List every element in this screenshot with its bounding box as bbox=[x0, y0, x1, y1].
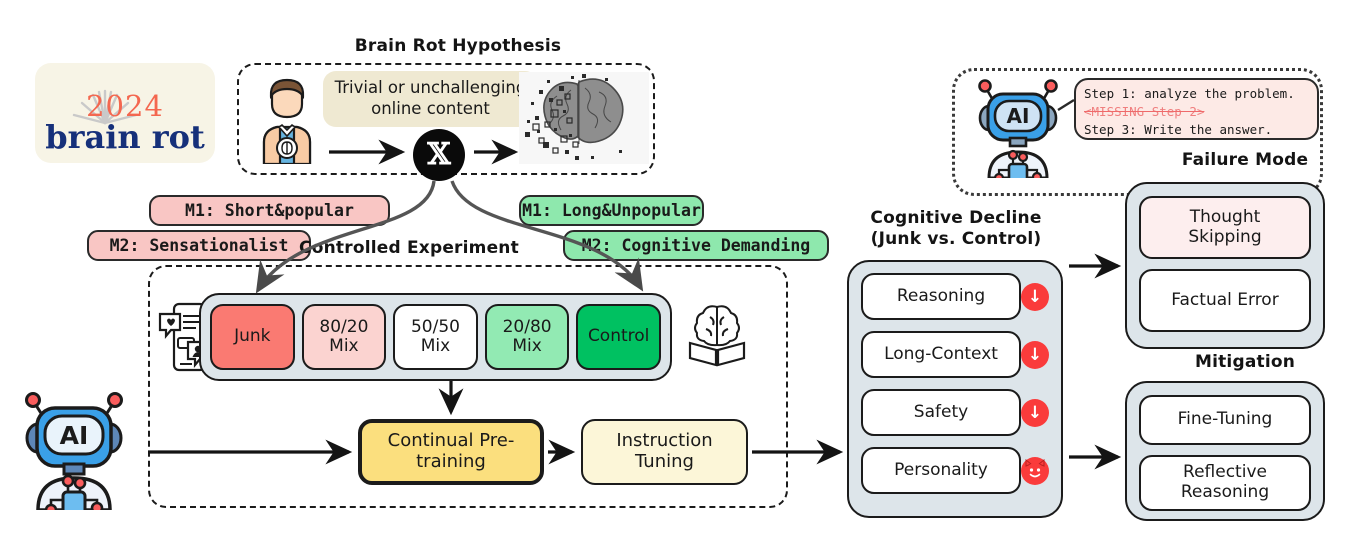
cognitive-label-safety[interactable]: Safety bbox=[861, 389, 1021, 436]
continual-pretraining-line2: training bbox=[382, 452, 521, 473]
mix-box-50-50-line2: Mix bbox=[421, 337, 450, 356]
failure-code-bubble: Step 1: analyze the problem. <MISSING St… bbox=[1074, 78, 1319, 140]
decaying-brain-icon bbox=[519, 72, 649, 164]
instruction-tuning-line2: Tuning bbox=[610, 452, 718, 473]
mix-box-control-line1: Control bbox=[588, 327, 649, 346]
mix-box-20-80-line1: 20/80 bbox=[503, 318, 552, 337]
mix-box-80-20-line1: 80/20 bbox=[319, 318, 368, 337]
svg-text:AI: AI bbox=[60, 421, 89, 450]
instruction-tuning-box[interactable]: Instruction Tuning bbox=[581, 419, 748, 485]
brain-rot-logo: 2024 brain rot bbox=[35, 63, 215, 163]
data-mix-strip: Junk 80/20 Mix 50/50 Mix 20/80 Mix Contr… bbox=[199, 293, 672, 381]
code-line-1: Step 1: analyze the problem. bbox=[1084, 85, 1309, 103]
x-logo-icon: 𝕏 bbox=[413, 129, 465, 181]
mix-box-50-50[interactable]: 50/50 Mix bbox=[393, 304, 478, 370]
failure-item-factual-error-label: Factual Error bbox=[1171, 291, 1278, 311]
mitigation-item-fine-tuning[interactable]: Fine-Tuning bbox=[1139, 395, 1311, 445]
mix-box-80-20-line2: Mix bbox=[329, 337, 358, 356]
mitigation-item-reflective-reasoning[interactable]: Reflective Reasoning bbox=[1139, 455, 1311, 511]
mix-box-20-80-line2: Mix bbox=[512, 337, 541, 356]
person-icon bbox=[258, 76, 316, 164]
online-content-text: Trivial or unchallenging online content bbox=[331, 78, 530, 119]
hypothesis-caption: Brain Rot Hypothesis bbox=[348, 36, 568, 56]
metric-control-m1: M1: Long&Unpopular bbox=[519, 195, 704, 226]
mitigation-caption: Mitigation bbox=[1170, 352, 1320, 372]
down-arrow-icon: ↓ bbox=[1021, 283, 1049, 311]
svg-text:AI: AI bbox=[1007, 104, 1030, 128]
failure-mode-caption: Failure Mode bbox=[1165, 150, 1325, 170]
mitigation-item-reflective-reasoning-line2: Reasoning bbox=[1181, 482, 1269, 502]
cognitive-row-long-context: Long-Context ↓ bbox=[861, 331, 1049, 378]
continual-pretraining-line1: Continual Pre- bbox=[382, 431, 521, 452]
experiment-caption: Controlled Experiment bbox=[294, 238, 524, 258]
logo-word: brain rot bbox=[35, 118, 215, 156]
mitigation-panel: Fine-Tuning Reflective Reasoning bbox=[1125, 381, 1325, 521]
failure-item-thought-skipping-line2: Skipping bbox=[1188, 227, 1261, 247]
metric-junk-m1-label: M1: Short&popular bbox=[185, 201, 354, 220]
metric-junk-m1: M1: Short&popular bbox=[149, 195, 390, 226]
mitigation-item-reflective-reasoning-line1: Reflective bbox=[1183, 462, 1267, 482]
continual-pretraining-box[interactable]: Continual Pre- training bbox=[358, 419, 544, 485]
metric-control-m2-label: M2: Cognitive Demanding bbox=[582, 236, 810, 255]
down-arrow-icon: ↓ bbox=[1021, 341, 1049, 369]
down-arrow-icon: ↓ bbox=[1021, 399, 1049, 427]
cognitive-label-personality[interactable]: Personality bbox=[861, 447, 1021, 494]
metric-junk-m2-label: M2: Sensationalist bbox=[110, 236, 289, 255]
failure-item-thought-skipping-line1: Thought bbox=[1190, 207, 1261, 227]
code-line-2-missing: <MISSING Step 2> bbox=[1084, 103, 1309, 121]
instruction-tuning-line1: Instruction bbox=[610, 431, 718, 452]
cognitive-decline-caption: Cognitive Decline (Junk vs. Control) bbox=[845, 208, 1067, 251]
cognitive-decline-panel: Reasoning ↓ Long-Context ↓ Safety ↓ Pers… bbox=[847, 260, 1063, 518]
mix-box-control[interactable]: Control bbox=[576, 304, 661, 370]
cognitive-row-personality: Personality bbox=[861, 447, 1049, 494]
ai-robot-icon: AI bbox=[972, 78, 1064, 178]
brain-book-icon bbox=[686, 303, 748, 369]
failure-item-factual-error[interactable]: Factual Error bbox=[1139, 269, 1311, 332]
mix-box-20-80[interactable]: 20/80 Mix bbox=[485, 304, 570, 370]
metric-control-m2: M2: Cognitive Demanding bbox=[563, 230, 829, 261]
failure-mode-panel: Thought Skipping Factual Error bbox=[1125, 182, 1325, 349]
code-line-3: Step 3: Write the answer. bbox=[1084, 121, 1309, 139]
online-content-label: Trivial or unchallenging online content bbox=[323, 71, 538, 127]
mix-box-50-50-line1: 50/50 bbox=[411, 318, 460, 337]
mitigation-item-fine-tuning-label: Fine-Tuning bbox=[1178, 410, 1273, 430]
cognitive-decline-caption-line2: (Junk vs. Control) bbox=[845, 229, 1067, 250]
cognitive-row-safety: Safety ↓ bbox=[861, 389, 1049, 436]
mix-box-junk[interactable]: Junk bbox=[210, 304, 295, 370]
cognitive-label-long-context[interactable]: Long-Context bbox=[861, 331, 1021, 378]
failure-item-thought-skipping[interactable]: Thought Skipping bbox=[1139, 196, 1311, 259]
devil-face-icon bbox=[1021, 457, 1049, 485]
metric-junk-m2: M2: Sensationalist bbox=[87, 230, 311, 261]
ai-robot-icon: AI bbox=[18, 392, 130, 510]
cognitive-label-reasoning[interactable]: Reasoning bbox=[861, 273, 1021, 320]
mix-box-80-20[interactable]: 80/20 Mix bbox=[302, 304, 387, 370]
metric-control-m1-label: M1: Long&Unpopular bbox=[522, 201, 701, 220]
cognitive-row-reasoning: Reasoning ↓ bbox=[861, 273, 1049, 320]
mix-box-junk-line1: Junk bbox=[234, 327, 270, 346]
cognitive-decline-caption-line1: Cognitive Decline bbox=[845, 208, 1067, 229]
